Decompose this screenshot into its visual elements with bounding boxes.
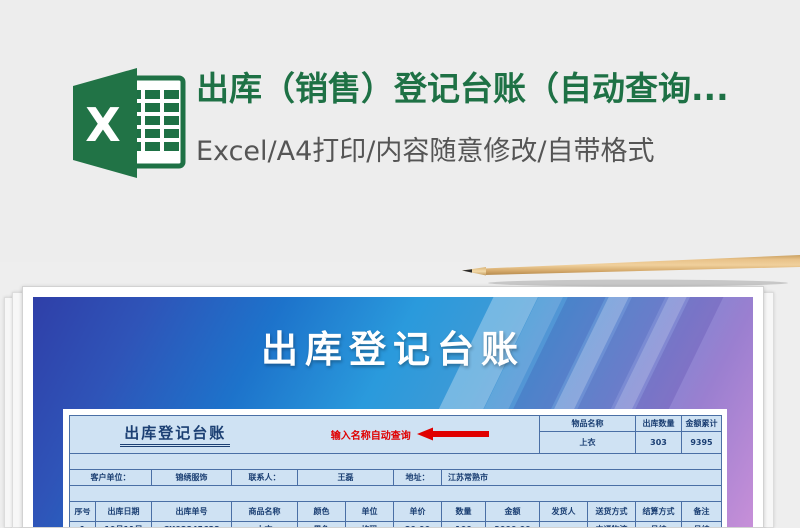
value-contact-person: 王磊 [298,470,394,486]
table-row[interactable]: 1 10月11日 CK03845622 上衣 黑色 均码 30.00 100 3… [70,522,722,528]
col-header-unit: 单位 [346,502,394,522]
ledger-table: 出库登记台账 输入名称自动查询 物品名称 [69,415,722,527]
title-block: 出库（销售）登记台账（自动查询... Excel/A4打印/内容随意修改/自带格… [196,63,800,175]
label-contact-person: 联系人： [232,470,298,486]
cell-shipper [540,522,588,528]
column-header-row: 序号 出库日期 出库单号 商品名称 颜色 单位 单价 数量 金额 发货人 送货方… [70,502,722,522]
col-header-product: 商品名称 [232,502,298,522]
col-header-settlement: 结算方式 [636,502,682,522]
cell-amount: 3000.00 [486,522,540,528]
col-header-shipper: 发货人 [540,502,588,522]
col-header-date: 出库日期 [96,502,152,522]
spacer-row [70,454,722,470]
product-banner: X 出库（销售）登记台账（自动查询... Excel/A4打印/内容随意修改/自… [0,0,800,262]
spreadsheet-sheet: 出库登记台账 [33,297,753,527]
label-customer-unit: 客户单位： [70,470,152,486]
cell-order-no: CK03845622 [152,522,232,528]
cell-price: 30.00 [394,522,442,528]
col-header-delivery: 送货方式 [588,502,636,522]
summary-header-row: 出库登记台账 输入名称自动查询 物品名称 [70,416,722,432]
excel-file-icon: X [67,62,189,184]
summary-value-qty: 303 [636,432,682,454]
ledger-heading: 出库登记台账 [120,422,230,447]
sheet-title: 出库登记台账 [33,319,753,373]
cell-remark: 月结 [682,522,722,528]
paper-sheet-front: 出库登记台账 [22,286,764,528]
page-title: 出库（销售）登记台账（自动查询... [196,63,800,115]
col-header-amount: 金额 [486,502,540,522]
value-customer-unit: 锦绣服饰 [152,470,232,486]
svg-text:X: X [85,98,120,152]
pencil-decoration [448,253,800,287]
cell-settlement: 月结 [636,522,682,528]
customer-info-row: 客户单位： 锦绣服饰 联系人： 王磊 地址： 江苏常熟市 [70,470,722,486]
cell-delivery: 中通物流 [588,522,636,528]
cell-index: 1 [70,522,96,528]
label-address: 地址： [394,470,442,486]
cell-qty: 100 [442,522,486,528]
query-hint-label: 输入名称自动查询 [331,427,411,442]
summary-header-amount: 金额累计 [682,416,722,432]
cell-unit: 均码 [346,522,394,528]
summary-header-item-name: 物品名称 [540,416,636,432]
col-header-order-no: 出库单号 [152,502,232,522]
spacer-row [70,486,722,502]
value-address: 江苏常熟市 [442,470,722,486]
col-header-price: 单价 [394,502,442,522]
cell-color: 黑色 [298,522,346,528]
page-subtitle: Excel/A4打印/内容随意修改/自带格式 [196,129,800,175]
col-header-qty: 数量 [442,502,486,522]
document-preview: 出库登记台账 [0,286,800,526]
summary-value-amount: 9395 [682,432,722,454]
left-arrow-icon [417,427,489,443]
cell-product: 上衣 [232,522,298,528]
summary-header-qty: 出库数量 [636,416,682,432]
summary-value-item-name[interactable]: 上衣 [540,432,636,454]
col-header-index: 序号 [70,502,96,522]
cell-date: 10月11日 [96,522,152,528]
col-header-color: 颜色 [298,502,346,522]
col-header-remark: 备注 [682,502,722,522]
